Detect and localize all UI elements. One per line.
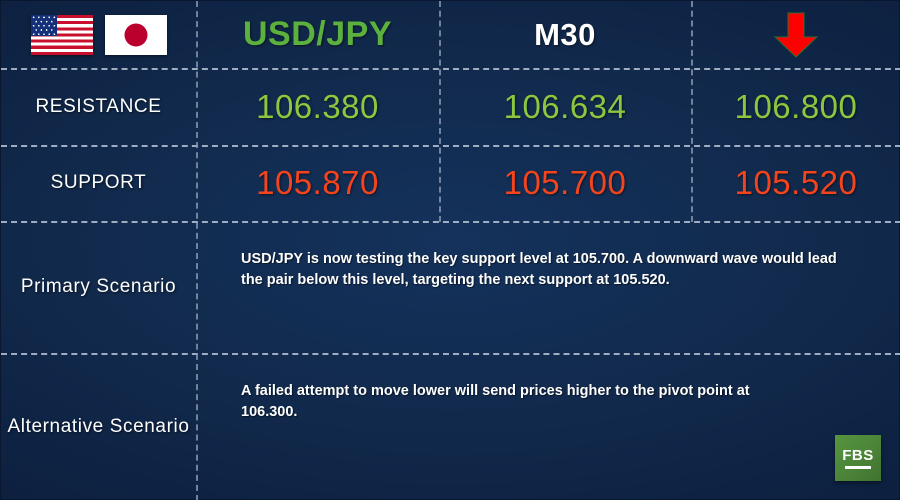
primary-scenario-label: Primary Scenario (21, 273, 176, 301)
support-value-cell-2: 105.700 (439, 145, 691, 221)
currency-pair-cell: USD/JPY (196, 1, 439, 68)
support-value-cell-1: 105.870 (196, 145, 439, 221)
signal-card: USD/JPY M30 RESISTANCE 106.380 106.634 1… (0, 0, 900, 500)
resistance-value-cell-2: 106.634 (439, 68, 691, 145)
support-label-cell: SUPPORT (1, 145, 196, 221)
support-label: SUPPORT (51, 172, 147, 194)
fbs-logo-bar (845, 466, 871, 469)
support-value-3: 105.520 (735, 164, 858, 202)
jp-flag-icon (105, 15, 167, 55)
resistance-label-cell: RESISTANCE (1, 68, 196, 145)
primary-scenario-text: USD/JPY is now testing the key support l… (241, 249, 861, 291)
resistance-value-2: 106.634 (504, 88, 627, 126)
support-value-1: 105.870 (256, 164, 379, 202)
timeframe-cell: M30 (439, 1, 691, 68)
us-flag-icon (31, 15, 93, 55)
alternative-scenario-label-cell: Alternative Scenario (1, 353, 196, 500)
flags-cell (1, 1, 196, 68)
support-value-2: 105.700 (504, 164, 627, 202)
resistance-label: RESISTANCE (35, 96, 161, 118)
alternative-scenario-label: Alternative Scenario (7, 413, 189, 441)
timeframe-label: M30 (534, 17, 596, 53)
support-value-cell-3: 105.520 (691, 145, 900, 221)
alternative-scenario-text: A failed attempt to move lower will send… (241, 381, 801, 423)
fbs-logo: FBS (835, 435, 881, 481)
jp-flag-disc (124, 23, 147, 46)
resistance-value-1: 106.380 (256, 88, 379, 126)
resistance-value-3: 106.800 (735, 88, 858, 126)
currency-pair-title: USD/JPY (243, 15, 392, 54)
direction-cell (691, 1, 900, 68)
us-flag-canton (31, 15, 57, 37)
fbs-logo-text: FBS (842, 448, 874, 463)
arrow-down-icon (773, 11, 819, 59)
resistance-value-cell-1: 106.380 (196, 68, 439, 145)
resistance-value-cell-3: 106.800 (691, 68, 900, 145)
primary-scenario-label-cell: Primary Scenario (1, 221, 196, 353)
